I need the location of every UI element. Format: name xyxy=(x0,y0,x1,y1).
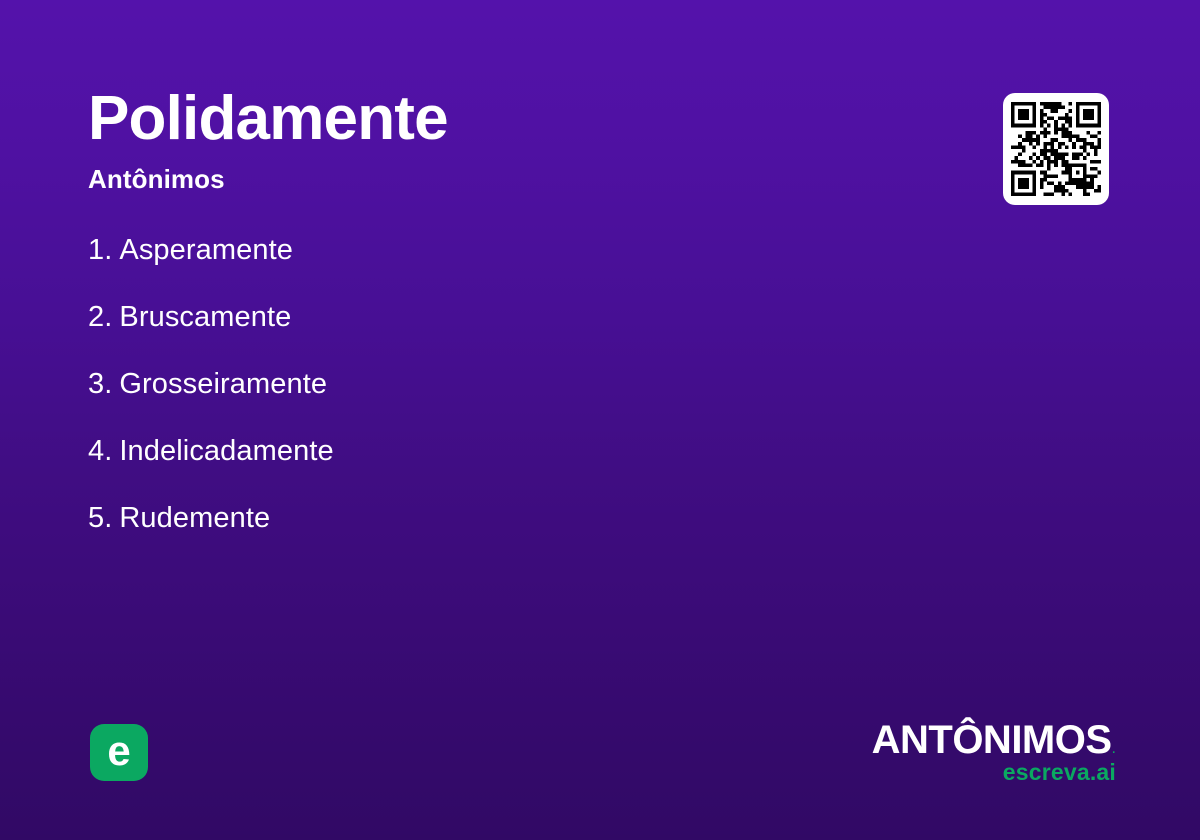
list-item: 5.Rudemente xyxy=(88,504,334,533)
wordmark-sub: escreva.ai xyxy=(872,761,1116,784)
list-item-label: Grosseiramente xyxy=(119,368,327,400)
page-subtitle: Antônimos xyxy=(88,164,448,195)
list-item-index: 3. xyxy=(88,368,112,400)
qr-code-panel[interactable] xyxy=(1003,93,1109,205)
list-item: 2.Bruscamente xyxy=(88,303,334,332)
wordmark-main-row: ANTÔNIMOS. xyxy=(872,720,1116,760)
list-item-index: 1. xyxy=(88,234,112,266)
antonyms-card: Polidamente Antônimos 1.Asperamente 2.Br… xyxy=(0,0,1200,840)
antonym-list: 1.Asperamente 2.Bruscamente 3.Grosseiram… xyxy=(88,236,334,571)
list-item: 3.Grosseiramente xyxy=(88,370,334,399)
wordmark: ANTÔNIMOS. escreva.ai xyxy=(872,720,1116,784)
list-item-index: 4. xyxy=(88,435,112,467)
wordmark-main: ANTÔNIMOS xyxy=(872,718,1112,762)
wordmark-dot: . xyxy=(1112,740,1116,757)
page-title: Polidamente xyxy=(88,88,448,150)
list-item-label: Rudemente xyxy=(119,502,270,534)
list-item-label: Asperamente xyxy=(119,234,293,266)
header-block: Polidamente Antônimos xyxy=(88,88,448,195)
list-item-label: Indelicadamente xyxy=(119,435,333,467)
brand-mark-letter: e xyxy=(90,724,148,781)
escreva-e-logo-icon[interactable]: e xyxy=(90,724,148,781)
list-item-label: Bruscamente xyxy=(119,301,291,333)
list-item-index: 2. xyxy=(88,301,112,333)
list-item-index: 5. xyxy=(88,502,112,534)
qr-code-icon[interactable] xyxy=(1011,102,1101,196)
list-item: 1.Asperamente xyxy=(88,236,334,265)
list-item: 4.Indelicadamente xyxy=(88,437,334,466)
